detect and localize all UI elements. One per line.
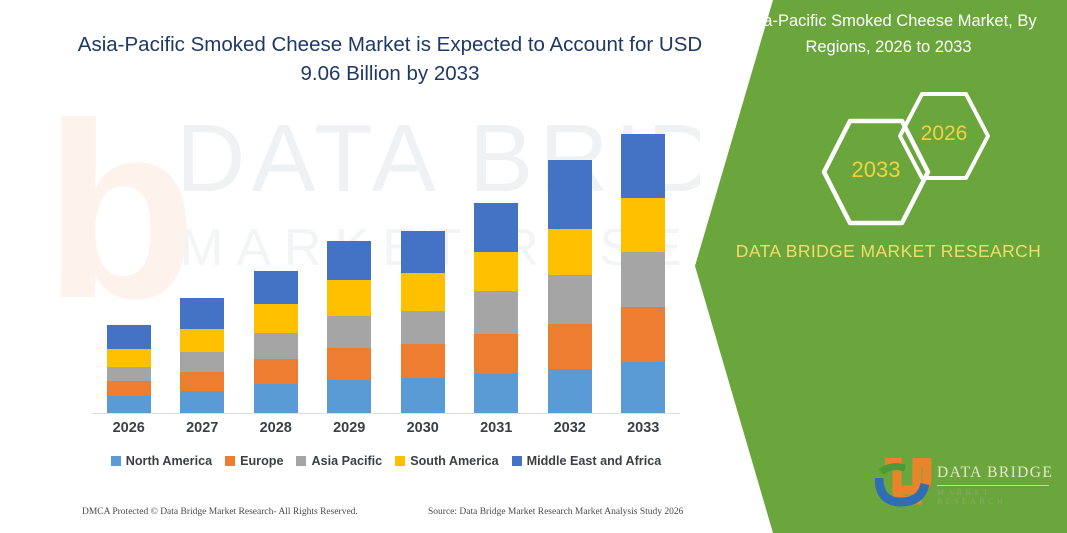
bar-segment[interactable] — [327, 316, 371, 347]
bar-segment[interactable] — [621, 252, 665, 307]
legend-item[interactable]: North America — [111, 454, 212, 468]
x-axis-label: 2027 — [166, 420, 240, 436]
chart-legend: North AmericaEuropeAsia PacificSouth Ame… — [92, 454, 680, 468]
bar-segment[interactable] — [548, 275, 592, 324]
x-axis-label: 2030 — [386, 420, 460, 436]
bar-slot — [386, 120, 460, 413]
dbmr-logo-icon — [875, 458, 935, 510]
hexagon-badge-2033: 2033 — [818, 114, 934, 230]
bar-segment[interactable] — [401, 344, 445, 379]
legend-label: North America — [126, 454, 212, 468]
bar-segment[interactable] — [621, 362, 665, 413]
plot-area — [92, 120, 680, 414]
bar-segment[interactable] — [180, 372, 224, 391]
bar-segment[interactable] — [401, 231, 445, 273]
bar-segment[interactable] — [180, 329, 224, 352]
bar-segment[interactable] — [474, 203, 518, 252]
x-axis-labels: 20262027202820292030203120322033 — [92, 420, 680, 436]
bar-segment[interactable] — [254, 271, 298, 304]
legend-item[interactable]: Europe — [225, 454, 283, 468]
legend-item[interactable]: South America — [395, 454, 498, 468]
bar-segment[interactable] — [180, 352, 224, 372]
dbmr-logo-subtext: MARKET RESEARCH — [937, 488, 1055, 506]
panel-title: Asia-Pacific Smoked Cheese Market, By Re… — [722, 8, 1055, 60]
bar-slot — [607, 120, 681, 413]
bar-segment[interactable] — [401, 273, 445, 311]
hexagon-2033-label: 2033 — [818, 157, 934, 183]
legend-swatch-icon — [395, 456, 405, 466]
x-axis-label: 2028 — [239, 420, 313, 436]
bar-segment[interactable] — [474, 374, 518, 413]
bar-slot — [460, 120, 534, 413]
bar-segment[interactable] — [621, 134, 665, 198]
bar-segment[interactable] — [254, 384, 298, 413]
bar-segment[interactable] — [107, 381, 151, 396]
stacked-bar[interactable] — [327, 241, 371, 413]
hexagon-2026-icon — [896, 88, 992, 184]
bar-slot — [239, 120, 313, 413]
hexagon-badge-2026: 2026 — [896, 88, 992, 184]
bar-segment[interactable] — [474, 334, 518, 375]
bar-segment[interactable] — [474, 252, 518, 291]
footer-copyright: DMCA Protected © Data Bridge Market Rese… — [82, 507, 358, 517]
stacked-bar[interactable] — [254, 271, 298, 413]
bar-segment[interactable] — [327, 280, 371, 316]
legend-item[interactable]: Asia Pacific — [296, 454, 382, 468]
bar-segment[interactable] — [327, 348, 371, 380]
bar-segment[interactable] — [327, 241, 371, 280]
legend-swatch-icon — [296, 456, 306, 466]
legend-label: Middle East and Africa — [527, 454, 662, 468]
bar-segment[interactable] — [548, 160, 592, 229]
bar-segment[interactable] — [180, 298, 224, 329]
bar-segment[interactable] — [254, 333, 298, 359]
footer-source: Source: Data Bridge Market Research Mark… — [428, 507, 683, 517]
bar-segment[interactable] — [327, 380, 371, 413]
bar-segment[interactable] — [254, 359, 298, 384]
legend-swatch-icon — [111, 456, 121, 466]
bar-segment[interactable] — [548, 229, 592, 275]
bar-slot — [313, 120, 387, 413]
panel-brand-text: DATA BRIDGE MARKET RESEARCH — [730, 238, 1047, 265]
bar-segment[interactable] — [621, 307, 665, 363]
x-axis-label: 2031 — [460, 420, 534, 436]
bar-slot — [533, 120, 607, 413]
x-axis-label: 2026 — [92, 420, 166, 436]
stacked-bar[interactable] — [621, 134, 665, 413]
legend-swatch-icon — [225, 456, 235, 466]
x-axis-line — [92, 413, 680, 414]
legend-label: South America — [410, 454, 498, 468]
x-axis-label: 2033 — [607, 420, 681, 436]
bar-segment[interactable] — [107, 367, 151, 381]
bar-segment[interactable] — [107, 349, 151, 366]
dbmr-logo-rule — [937, 485, 1049, 486]
hexagon-badges: 2026 2033 — [710, 88, 1067, 220]
bar-segment[interactable] — [621, 198, 665, 252]
bar-segment[interactable] — [107, 396, 151, 413]
bar-segment[interactable] — [107, 325, 151, 350]
bar-segment[interactable] — [401, 378, 445, 413]
hexagon-2026-label: 2026 — [896, 122, 992, 146]
legend-swatch-icon — [512, 456, 522, 466]
bar-group — [92, 120, 680, 413]
stacked-bar[interactable] — [474, 203, 518, 413]
infographic-root: b DATA BRIDGE MARKET RESEARCH Asia-Pacif… — [0, 0, 1067, 533]
stacked-bar[interactable] — [548, 160, 592, 413]
stacked-bar[interactable] — [180, 298, 224, 413]
bar-segment[interactable] — [401, 311, 445, 344]
legend-item[interactable]: Middle East and Africa — [512, 454, 662, 468]
bar-segment[interactable] — [180, 391, 224, 413]
x-axis-label: 2029 — [313, 420, 387, 436]
legend-label: Asia Pacific — [311, 454, 382, 468]
bar-segment[interactable] — [548, 324, 592, 369]
dbmr-logo-text: DATA BRIDGE — [937, 464, 1053, 482]
stacked-bar[interactable] — [107, 325, 151, 413]
chart-title: Asia-Pacific Smoked Cheese Market is Exp… — [70, 30, 710, 88]
stacked-bar[interactable] — [401, 231, 445, 413]
hexagon-2033-icon — [818, 114, 934, 230]
bar-segment[interactable] — [254, 304, 298, 333]
bar-slot — [166, 120, 240, 413]
bar-segment[interactable] — [548, 369, 592, 413]
bar-segment[interactable] — [474, 291, 518, 334]
chart-panel: Asia-Pacific Smoked Cheese Market is Exp… — [0, 0, 760, 533]
green-panel-content: Asia-Pacific Smoked Cheese Market, By Re… — [710, 0, 1067, 533]
bar-slot — [92, 120, 166, 413]
legend-label: Europe — [240, 454, 283, 468]
dbmr-logo: DATA BRIDGE MARKET RESEARCH — [875, 458, 1055, 516]
x-axis-label: 2032 — [533, 420, 607, 436]
